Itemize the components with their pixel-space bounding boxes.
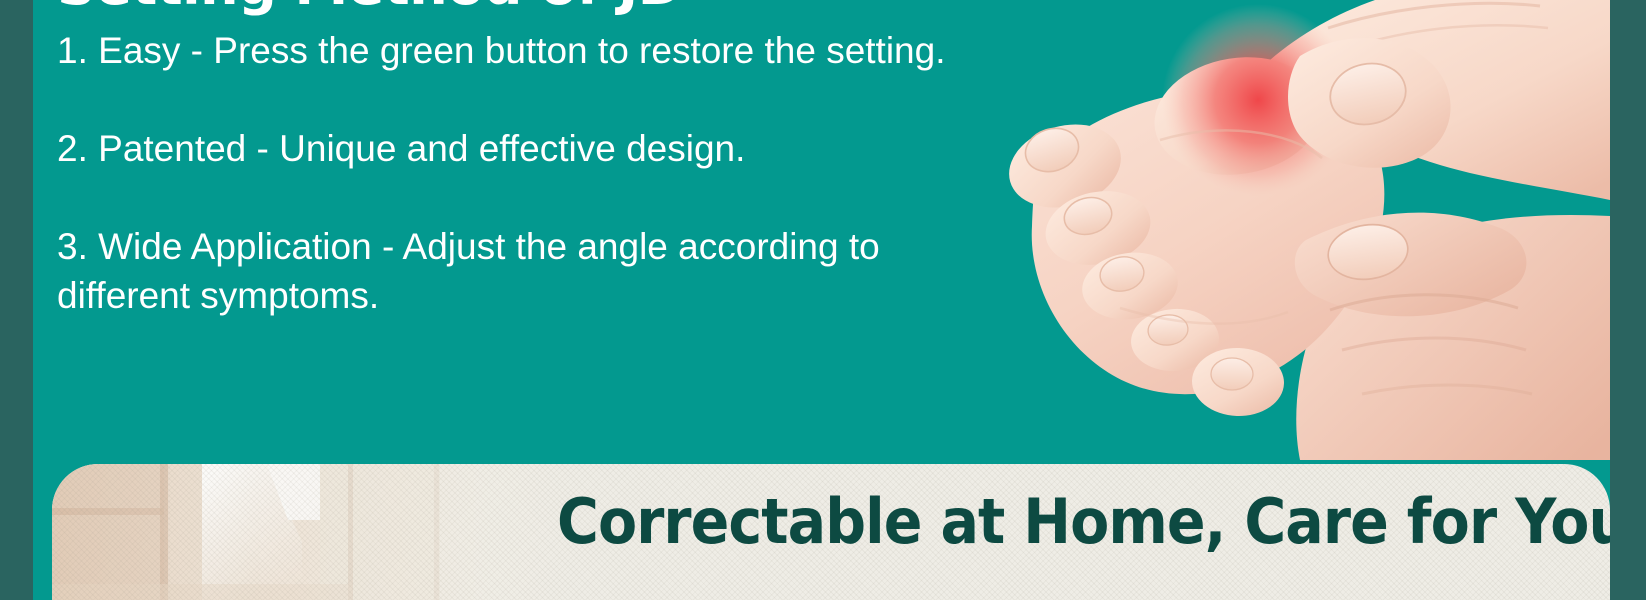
- bottom-card: Correctable at Home, Care for Your: [52, 464, 1610, 600]
- page-title: Setting Method of JD: [57, 0, 1017, 16]
- feature-item-3: 3. Wide Application - Adjust the angle a…: [57, 222, 1017, 320]
- page-title-clip: Setting Method of JD: [57, 0, 1017, 16]
- foot-with-bunion-photo: [970, 0, 1610, 460]
- frame-right-border: [1610, 0, 1646, 600]
- card-heading: Correctable at Home, Care for Your: [557, 486, 1610, 558]
- teal-panel: Setting Method of JD 1. Easy - Press the…: [33, 0, 1610, 600]
- feature-list: 1. Easy - Press the green button to rest…: [57, 26, 1017, 320]
- frame-left-border: [0, 0, 33, 600]
- home-interior-photo: [52, 464, 612, 600]
- feature-item-1: 1. Easy - Press the green button to rest…: [57, 26, 1017, 75]
- infographic-page: Setting Method of JD 1. Easy - Press the…: [0, 0, 1646, 600]
- feature-item-2: 2. Patented - Unique and effective desig…: [57, 124, 1017, 173]
